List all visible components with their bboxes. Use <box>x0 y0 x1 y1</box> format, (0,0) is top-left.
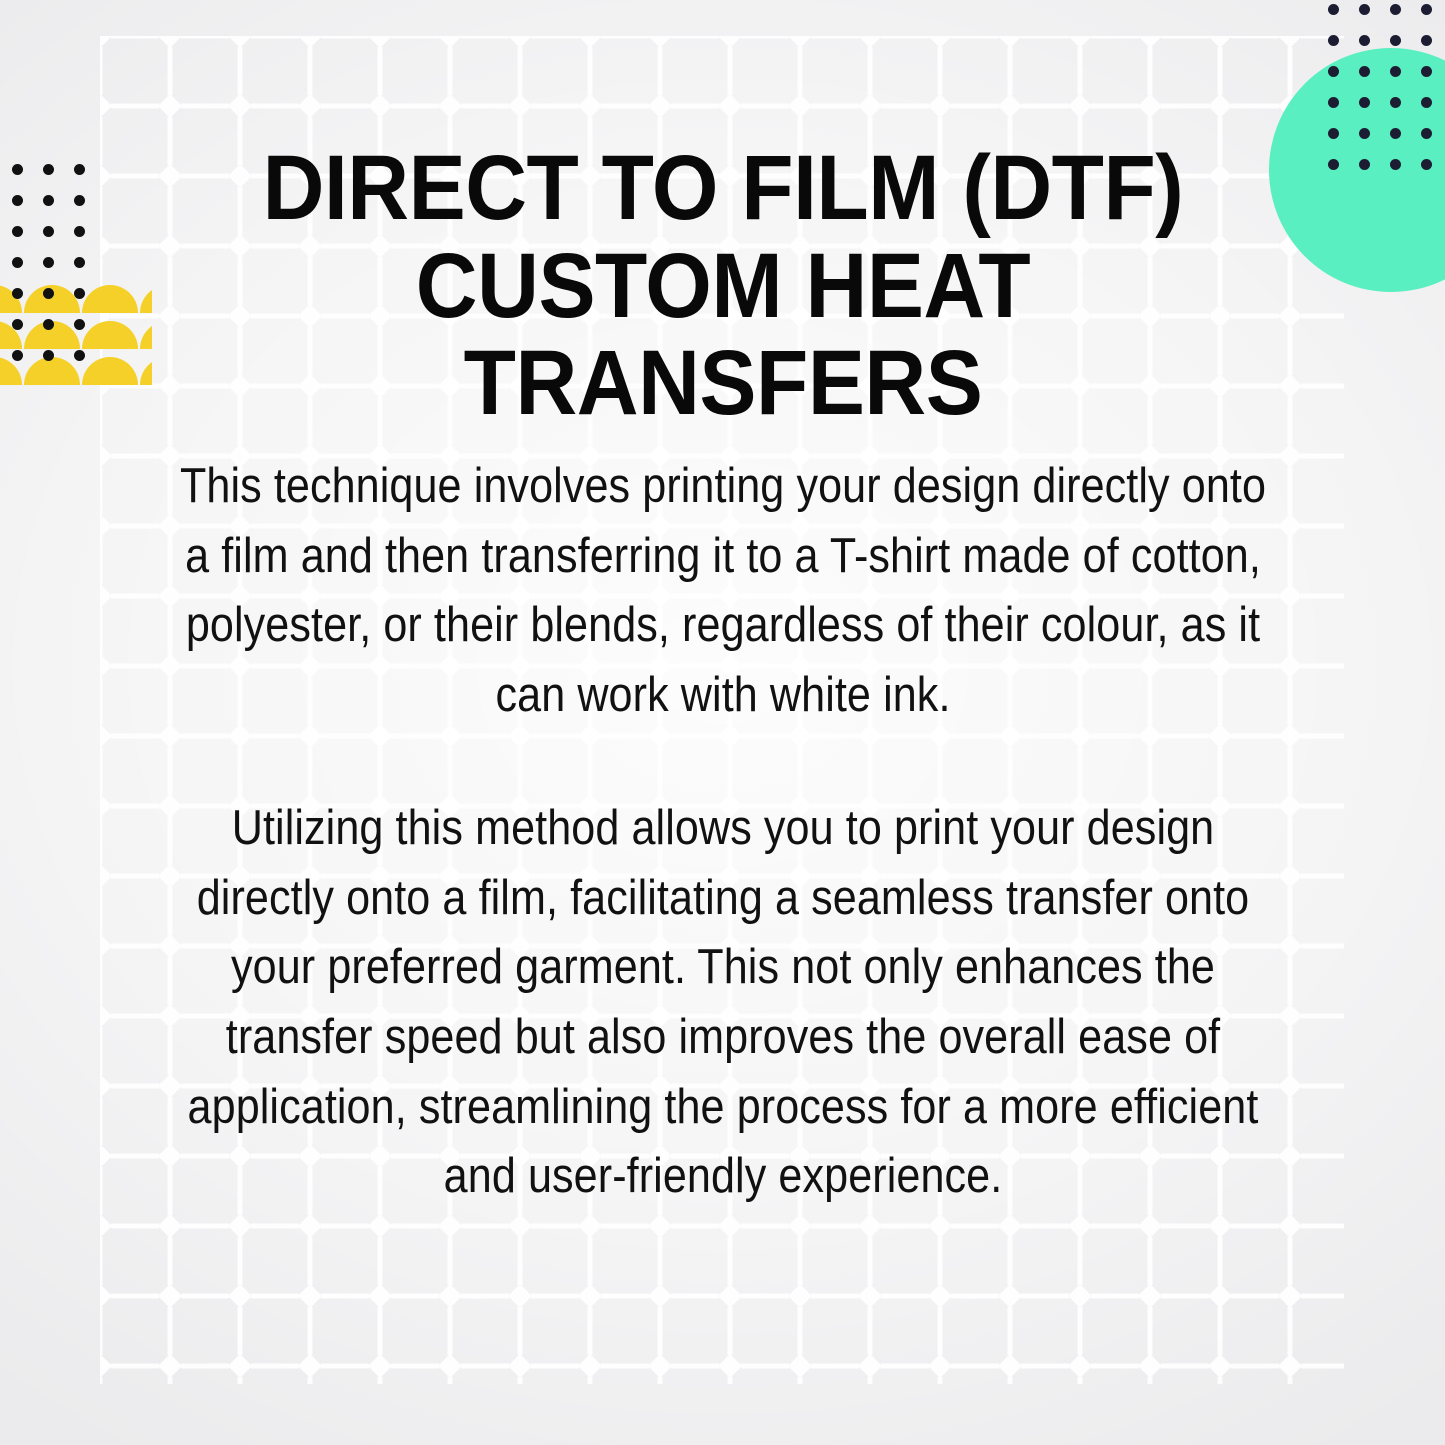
poster-content: DIRECT TO FILM (DTF) CUSTOM HEAT TRANSFE… <box>0 0 1445 1445</box>
page-title: DIRECT TO FILM (DTF) CUSTOM HEAT TRANSFE… <box>151 140 1295 433</box>
paragraph-2: Utilizing this method allows you to prin… <box>168 794 1279 1211</box>
poster-canvas: DIRECT TO FILM (DTF) CUSTOM HEAT TRANSFE… <box>0 0 1445 1445</box>
body-copy: This technique involves printing your de… <box>92 452 1354 1212</box>
paragraph-1: This technique involves printing your de… <box>168 452 1279 730</box>
